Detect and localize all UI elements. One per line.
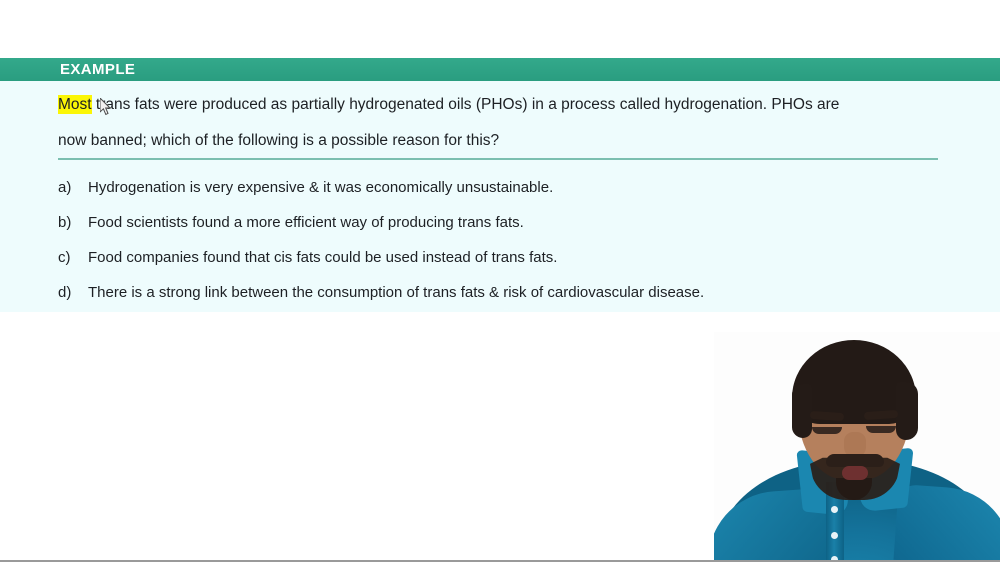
answer-choice-d[interactable]: d)There is a strong link between the con… <box>58 275 958 310</box>
answer-choice-d-text: There is a strong link between the consu… <box>88 275 704 310</box>
question-stem: Most trans fats were produced as partial… <box>58 87 943 159</box>
instructor-mouth <box>842 466 868 480</box>
webcam-video-overlay[interactable] <box>714 332 1000 560</box>
answer-choice-c-text: Food companies found that cis fats could… <box>88 240 557 275</box>
shirt-button-bottom <box>831 556 838 560</box>
slide-panel: EXAMPLE Most trans fats were produced as… <box>0 58 1000 312</box>
instructor-eye-left <box>812 427 842 434</box>
instructor-hair-right-side <box>896 382 918 440</box>
example-header-bar: EXAMPLE <box>0 58 1000 81</box>
answer-choice-c[interactable]: c)Food companies found that cis fats cou… <box>58 240 958 275</box>
answer-choice-b[interactable]: b)Food scientists found a more efficient… <box>58 205 958 240</box>
shirt-button-top <box>831 506 838 513</box>
answer-choice-a[interactable]: a)Hydrogenation is very expensive & it w… <box>58 170 958 205</box>
shirt-button-middle <box>831 532 838 539</box>
section-divider <box>58 158 938 160</box>
answer-choices-list: a)Hydrogenation is very expensive & it w… <box>58 170 958 310</box>
answer-choice-b-label: b) <box>58 205 88 240</box>
answer-choice-c-label: c) <box>58 240 88 275</box>
question-line-2: now banned; which of the following is a … <box>58 132 499 149</box>
answer-choice-a-text: Hydrogenation is very expensive & it was… <box>88 170 553 205</box>
example-label: EXAMPLE <box>60 60 135 79</box>
highlighted-word-most: Most <box>58 95 92 114</box>
question-line-1-rest: trans fats were produced as partially hy… <box>92 96 840 113</box>
instructor-hair-left-side <box>792 384 812 438</box>
answer-choice-d-label: d) <box>58 275 88 310</box>
answer-choice-b-text: Food scientists found a more efficient w… <box>88 205 524 240</box>
answer-choice-a-label: a) <box>58 170 88 205</box>
instructor-eye-right <box>866 426 896 433</box>
